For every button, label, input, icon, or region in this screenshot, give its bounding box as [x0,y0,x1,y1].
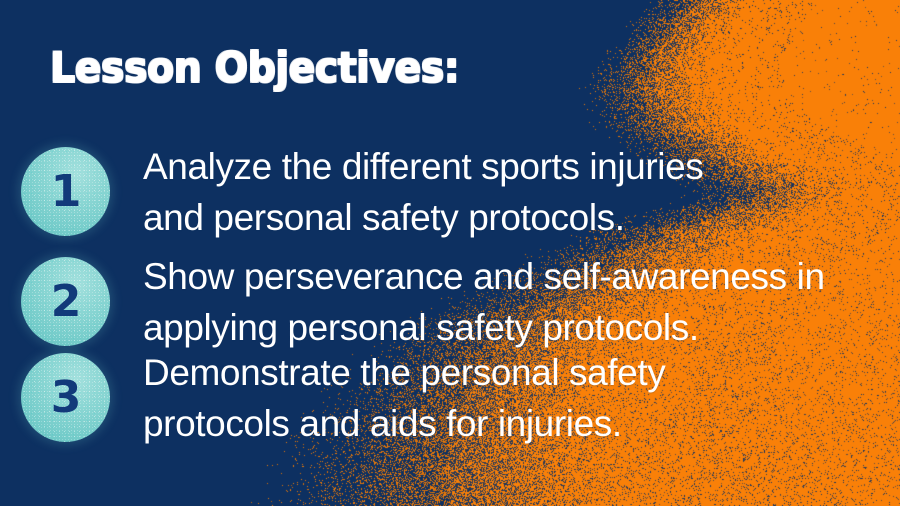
objective-number-badge-3: 3 [21,353,110,442]
objective-text-2: Show perseverance and self-awareness in … [143,251,900,353]
objective-number-1: 1 [51,170,81,214]
objective-number-2: 2 [51,280,81,324]
objective-text-1: Analyze the different sports injuries an… [143,141,900,243]
objective-number-3: 3 [51,376,81,420]
slide-title: Lesson Objectives: [50,47,459,89]
objective-number-badge-1: 1 [21,147,110,236]
objective-number-badge-2: 2 [21,257,110,346]
objective-text-3: Demonstrate the personal safety protocol… [143,347,900,449]
slide-canvas: Lesson Objectives: 1 Analyze the differe… [0,0,900,506]
